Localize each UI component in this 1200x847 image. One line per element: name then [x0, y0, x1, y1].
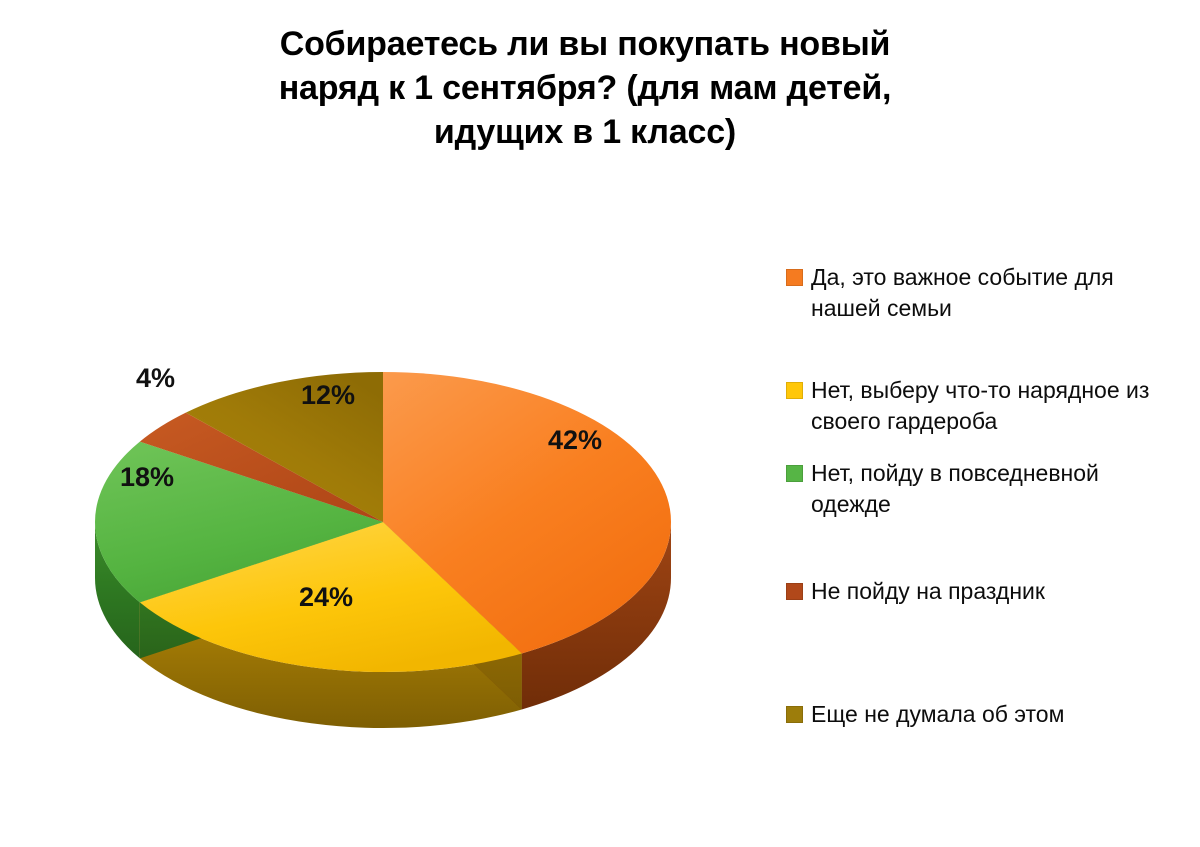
legend-swatch-icon	[786, 465, 803, 482]
legend-swatch-icon	[786, 706, 803, 723]
legend-item[interactable]: Да, это важное событие для нашей семьи	[786, 262, 1186, 323]
pie-chart-graphic: 42% 24% 18% 4% 12%	[60, 330, 760, 730]
legend-item-label: Еще не думала об этом	[811, 699, 1064, 730]
pie-chart-slide: Собираетесь ли вы покупать новый наряд к…	[0, 0, 1200, 847]
legend-item[interactable]: Еще не думала об этом	[786, 699, 1186, 730]
legend-item-label: Нет, выберу что-то нарядное из своего га…	[811, 375, 1183, 436]
legend-item[interactable]: Нет, выберу что-то нарядное из своего га…	[786, 375, 1186, 436]
legend-item-label: Нет, пойду в повседневной одежде	[811, 458, 1183, 519]
page-title-line-1: Собираетесь ли вы покупать новый	[110, 22, 1060, 66]
legend-swatch-icon	[786, 583, 803, 600]
legend: Да, это важное событие для нашей семьи Н…	[786, 262, 1186, 730]
pie-3d-body	[95, 372, 671, 728]
page-title: Собираетесь ли вы покупать новый наряд к…	[110, 22, 1060, 155]
legend-item-label: Да, это важное событие для нашей семьи	[811, 262, 1183, 323]
pie-svg	[60, 330, 760, 730]
page-title-line-2: наряд к 1 сентября? (для мам детей,	[110, 66, 1060, 110]
legend-item-label: Не пойду на праздник	[811, 576, 1045, 607]
page-title-line-3: идущих в 1 класс)	[110, 110, 1060, 154]
legend-item[interactable]: Не пойду на праздник	[786, 576, 1186, 607]
legend-swatch-icon	[786, 382, 803, 399]
legend-swatch-icon	[786, 269, 803, 286]
legend-item[interactable]: Нет, пойду в повседневной одежде	[786, 458, 1186, 519]
